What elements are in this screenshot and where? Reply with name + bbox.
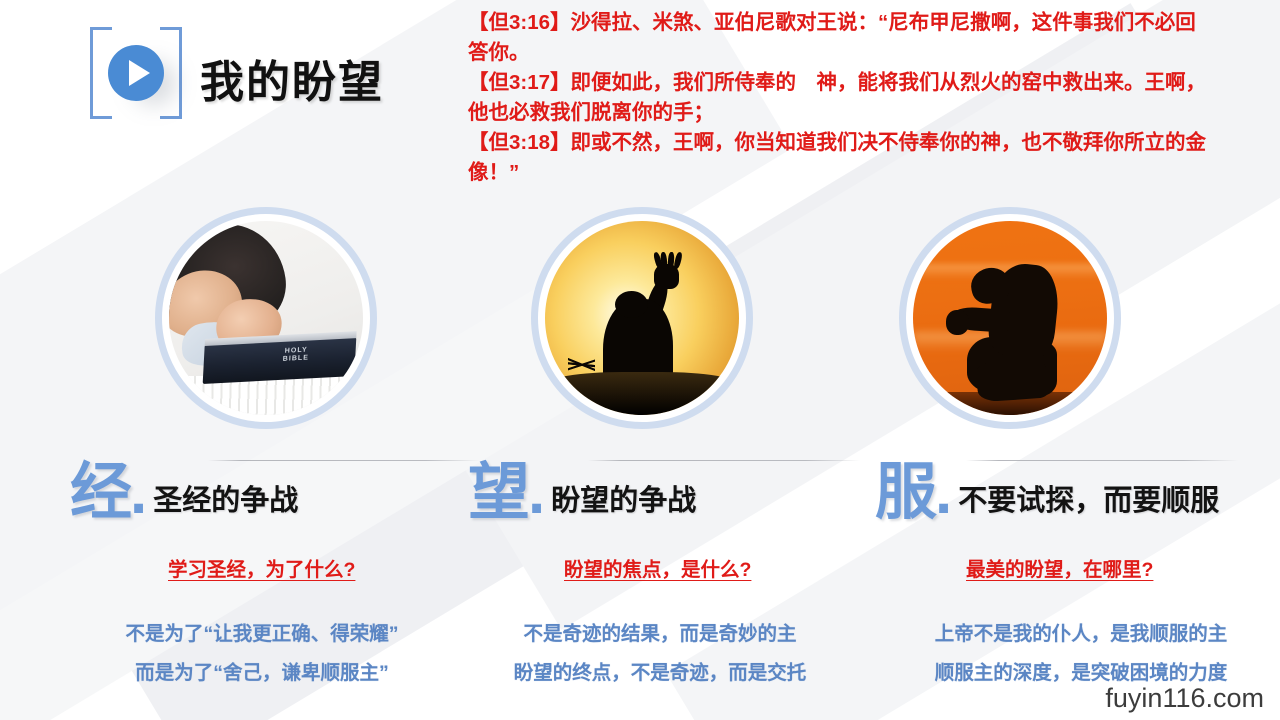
column-subtitle: 盼望的争战	[551, 477, 696, 519]
column-body-1: 不是为了“让我更正确、得荣耀” 而是为了“舍己，谦卑顺服主”	[84, 615, 440, 693]
play-circle-icon	[108, 45, 164, 101]
column-photo-kneeling	[899, 207, 1121, 429]
column-body-line: 盼望的终点，不是奇迹，而是交托	[470, 654, 850, 693]
column-dot: .	[130, 462, 147, 524]
column-glyph: 经	[70, 462, 132, 524]
column-body-3: 上帝不是我的仆人，是我顺服的主 顺服主的深度，是突破困境的力度	[886, 615, 1276, 693]
column-heading-2: 望 . 盼望的争战	[468, 462, 696, 524]
column-glyph: 望	[468, 462, 530, 524]
column-dot: .	[935, 462, 952, 524]
column-heading-3: 服 . 不要试探，而要顺服	[875, 462, 1219, 524]
scripture-line: 【但3:17】即便如此，我们所侍奉的 神，能将我们从烈火的窑中救出来。王啊，他也…	[468, 68, 1216, 128]
column-body-line: 不是为了“让我更正确、得荣耀”	[84, 615, 440, 654]
column-divider	[588, 460, 860, 461]
column-body-line: 上帝不是我的仆人，是我顺服的主	[886, 615, 1276, 654]
site-watermark: fuyin116.com	[1105, 683, 1264, 714]
column-body-line: 不是奇迹的结果，而是奇妙的主	[470, 615, 850, 654]
column-question-2: 盼望的焦点，是什么?	[564, 553, 751, 582]
column-dot: .	[528, 462, 545, 524]
column-body-2: 不是奇迹的结果，而是奇妙的主 盼望的终点，不是奇迹，而是交托	[470, 615, 850, 693]
column-subtitle: 不要试探，而要顺服	[958, 477, 1219, 519]
scripture-line: 【但3:16】沙得拉、米煞、亚伯尼歌对王说：“尼布甲尼撒啊，这件事我们不必回答你…	[468, 8, 1216, 68]
column-body-line: 而是为了“舍己，谦卑顺服主”	[84, 654, 440, 693]
holy-bible-label: HOLYBIBLE	[282, 347, 309, 364]
column-question-1: 学习圣经，为了什么?	[168, 553, 355, 582]
page-title: 我的盼望	[200, 46, 384, 110]
scripture-block: 【但3:16】沙得拉、米煞、亚伯尼歌对王说：“尼布甲尼撒啊，这件事我们不必回答你…	[468, 8, 1216, 188]
column-photo-bible: HOLYBIBLE	[155, 207, 377, 429]
play-button-icon	[90, 27, 182, 119]
column-question-3: 最美的盼望，在哪里?	[966, 553, 1153, 582]
column-subtitle: 圣经的争战	[153, 477, 298, 519]
column-divider	[208, 460, 480, 461]
column-photo-sunset	[531, 207, 753, 429]
slide-canvas: 我的盼望 【但3:16】沙得拉、米煞、亚伯尼歌对王说：“尼布甲尼撒啊，这件事我们…	[0, 0, 1280, 720]
column-glyph: 服	[875, 462, 937, 524]
column-heading-1: 经 . 圣经的争战	[70, 462, 298, 524]
column-divider	[966, 460, 1238, 461]
scripture-line: 【但3:18】即或不然，王啊，你当知道我们决不侍奉你的神，也不敬拜你所立的金像！…	[468, 128, 1216, 188]
